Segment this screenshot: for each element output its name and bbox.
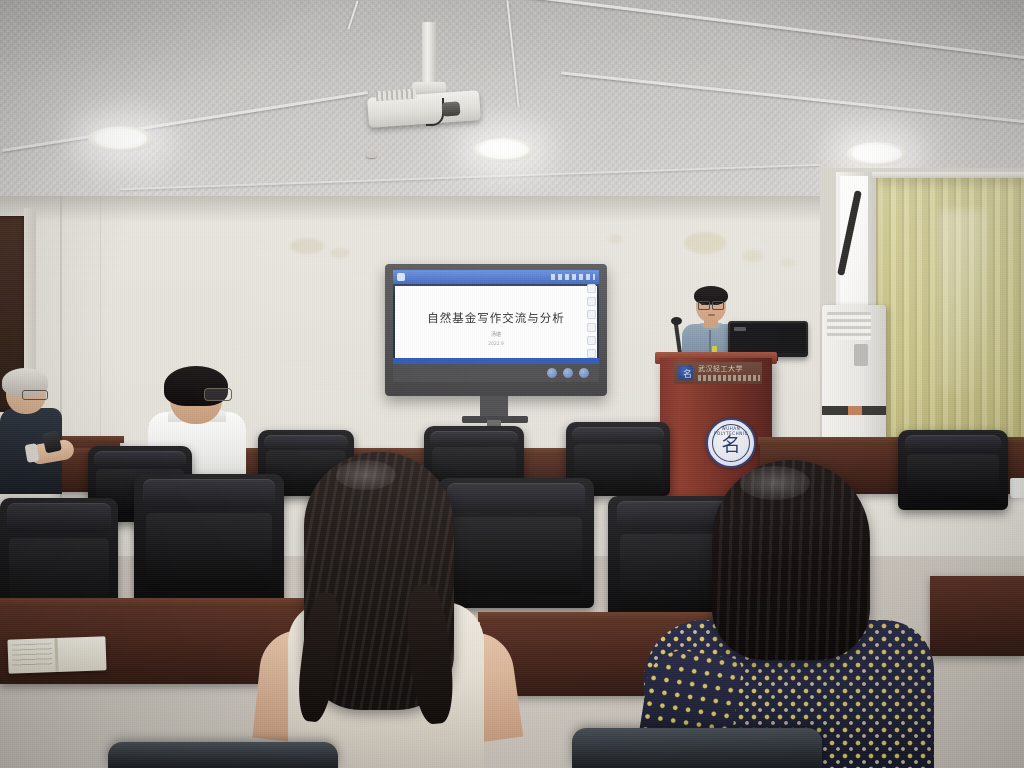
screen-control-strip[interactable]: [393, 364, 599, 382]
projector-lens: [442, 101, 461, 116]
microphone-icon: [671, 317, 682, 325]
chair[interactable]: [108, 742, 338, 768]
attendee-grey-hair: [0, 372, 80, 496]
podium-institution-name: 武汉轻工大学: [698, 364, 760, 373]
glasses-icon: [204, 388, 232, 401]
desk: [930, 576, 1024, 656]
slide-title: 自然基金写作交流与分析: [395, 310, 597, 326]
ac-control-panel[interactable]: [854, 344, 868, 366]
ceiling-light-center: [473, 138, 535, 162]
wall-mark: [330, 248, 350, 258]
wall-mark: [742, 250, 764, 262]
wall-mark: [608, 234, 622, 244]
tool-icon-2[interactable]: [587, 297, 596, 306]
menu-button-icon[interactable]: [579, 368, 589, 378]
speaker-eye: [715, 303, 719, 305]
ac-vent-grille: [827, 312, 871, 340]
speaker-mouth: [708, 314, 715, 316]
display-stand: [480, 396, 508, 418]
hair-highlight: [740, 466, 810, 500]
attendee-floral-woman: [644, 460, 934, 768]
projector-icon: [368, 84, 480, 130]
speaker-shirt-placket: [709, 330, 711, 352]
ac-brand-logo: [848, 406, 862, 415]
curtain-highlight: [940, 210, 986, 390]
smoke-detector-icon: [366, 151, 377, 158]
ceiling-light-left: [88, 126, 154, 152]
speaker-eye: [701, 303, 705, 305]
tool-icon-5[interactable]: [587, 336, 596, 345]
projector-mount-pole: [422, 22, 436, 86]
wall-mark: [780, 258, 796, 267]
attendee-long-hair-woman: [258, 452, 510, 768]
home-button-icon[interactable]: [563, 368, 573, 378]
slide-presenter-name: 汤堪: [395, 331, 597, 338]
open-notebook[interactable]: [7, 636, 106, 673]
screen-glare: [393, 270, 599, 296]
paper-cup[interactable]: [1010, 478, 1024, 498]
wall-mark: [290, 238, 324, 254]
tool-icon-3[interactable]: [587, 310, 596, 319]
university-logo-icon: 名: [678, 365, 693, 380]
tool-icon-4[interactable]: [587, 323, 596, 332]
glasses-icon: [22, 390, 48, 400]
podium-institution-name-romanized: [698, 375, 760, 381]
tool-icon-6[interactable]: [587, 349, 596, 358]
chair[interactable]: [572, 728, 822, 768]
lecture-hall-photo: 自然基金写作交流与分析 汤堪 2022.9: [0, 0, 1024, 768]
wall-mark: [684, 232, 726, 254]
slide-date: 2022.9: [395, 342, 597, 347]
hair-highlight: [336, 460, 396, 490]
ceiling-light-right: [846, 142, 908, 166]
slide-canvas: 自然基金写作交流与分析 汤堪 2022.9: [395, 286, 597, 364]
monitor-brand-logo: [734, 327, 746, 331]
back-button-icon[interactable]: [547, 368, 557, 378]
notebook-ruled-lines: [12, 643, 53, 668]
